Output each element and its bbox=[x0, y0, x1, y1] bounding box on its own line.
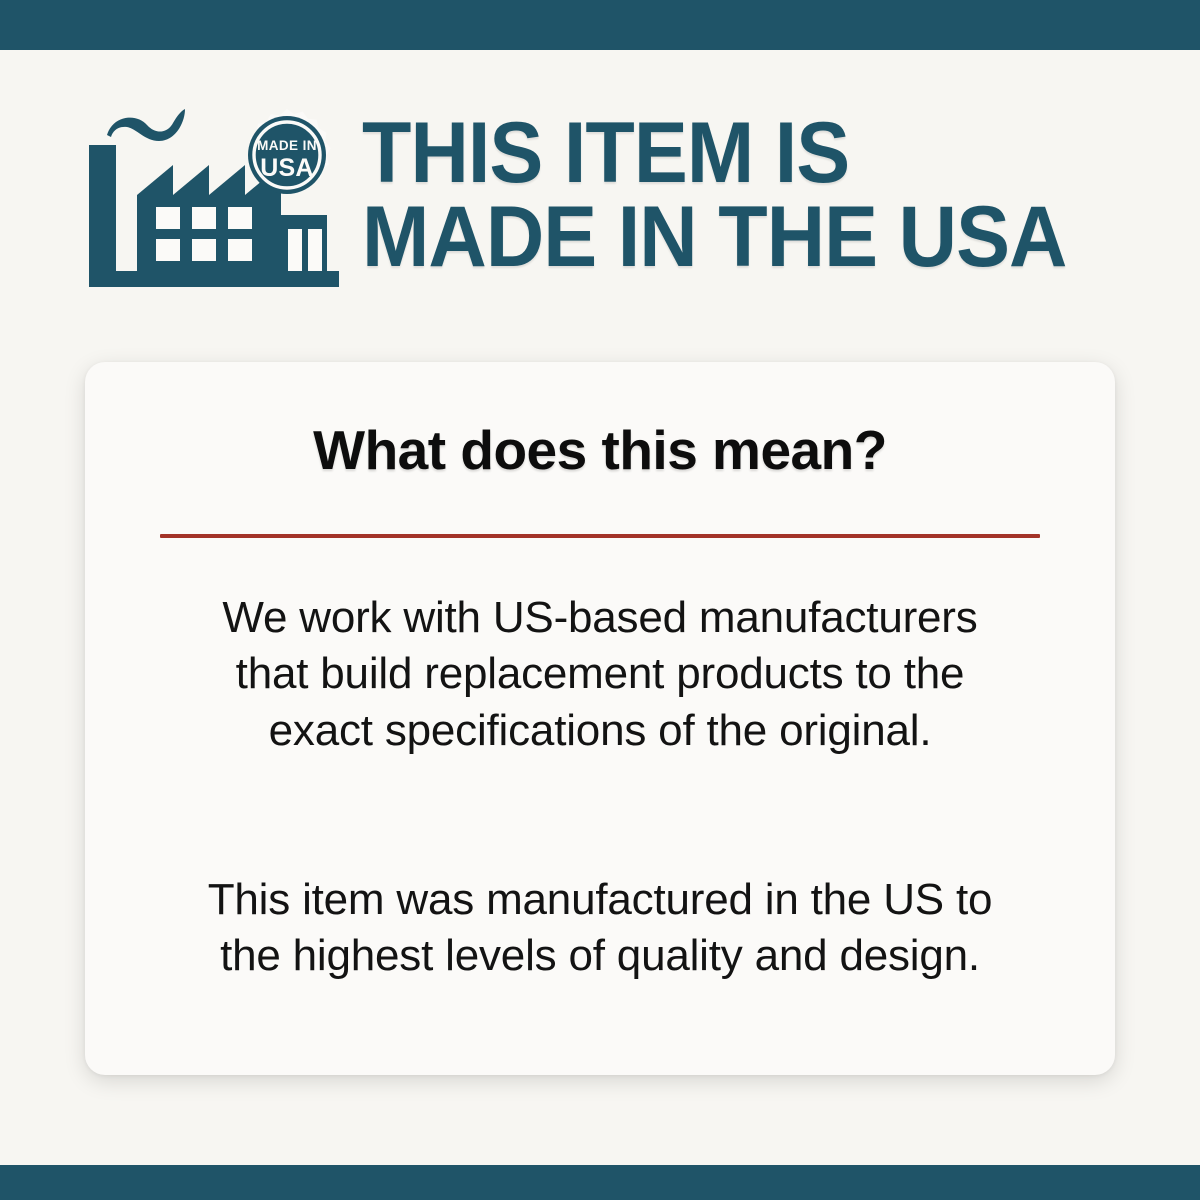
bottom-accent-bar bbox=[0, 1165, 1200, 1200]
top-accent-bar bbox=[0, 0, 1200, 50]
seal-line1: MADE IN bbox=[257, 138, 317, 153]
page-title: THIS ITEM IS MADE IN THE USA bbox=[362, 111, 1067, 280]
headline-line-1: THIS ITEM IS bbox=[362, 111, 1067, 195]
info-card: What does this mean? We work with US-bas… bbox=[85, 362, 1115, 1075]
card-paragraph-1: We work with US-based manufacturers that… bbox=[145, 590, 1055, 759]
made-in-usa-seal-icon: MADE IN USA bbox=[248, 109, 331, 194]
smoke-plume-icon bbox=[107, 109, 185, 141]
card-paragraph-2: This item was manufactured in the US to … bbox=[145, 872, 1055, 985]
page-root: MADE IN USA THIS ITEM IS MADE IN THE USA… bbox=[0, 0, 1200, 1200]
paragraph-2-line-2: the highest levels of quality and design… bbox=[145, 928, 1055, 984]
smokestack-icon bbox=[89, 145, 116, 272]
card-divider bbox=[160, 534, 1040, 538]
paragraph-2-line-1: This item was manufactured in the US to bbox=[145, 872, 1055, 928]
paragraph-1-line-2: that build replacement products to the bbox=[145, 646, 1055, 702]
factory-icon: MADE IN USA bbox=[89, 103, 344, 288]
factory-base bbox=[89, 271, 339, 287]
card-heading: What does this mean? bbox=[85, 418, 1115, 482]
headline-line-2: MADE IN THE USA bbox=[362, 195, 1067, 279]
paragraph-1-line-1: We work with US-based manufacturers bbox=[145, 590, 1055, 646]
paragraph-1-line-3: exact specifications of the original. bbox=[145, 703, 1055, 759]
seal-line2: USA bbox=[260, 154, 313, 182]
header-banner: MADE IN USA THIS ITEM IS MADE IN THE USA bbox=[0, 95, 1200, 295]
